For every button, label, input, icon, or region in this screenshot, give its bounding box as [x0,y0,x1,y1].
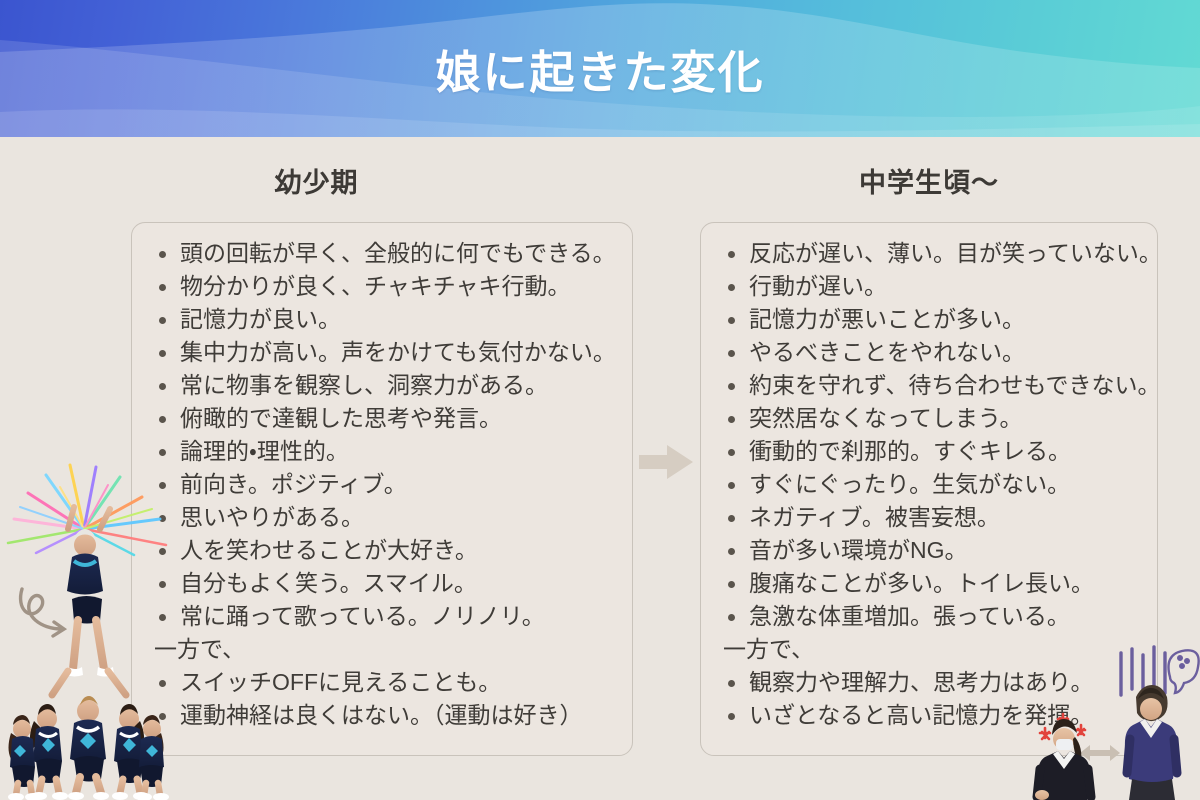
page-header: 娘に起きた変化 [0,0,1200,137]
list-item: 記憶力が悪いことが多い。 [719,303,1147,336]
column-heading-childhood: 幼少期 [0,161,633,200]
list-item: 観察力や理解力、思考力はあり。 [719,666,1147,699]
list-item: 思いやりがある。 [150,501,622,534]
list-item: すぐにぐったり。生気がない。 [719,468,1147,501]
list-item: 記憶力が良い。 [150,303,622,336]
list-item: 集中力が高い。声をかけても気付かない。 [150,336,622,369]
list-item: 突然居なくなってしまう。 [719,402,1147,435]
list-item: やるべきことをやれない。 [719,336,1147,369]
list-item: 衝動的で刹那的。すぐキレる。 [719,435,1147,468]
list-item: 常に物事を観察し、洞察力がある。 [150,369,622,402]
list-item: ネガティブ。被害妄想。 [719,501,1147,534]
curved-arrow-icon [21,589,64,636]
list-item: 約束を守れず、待ち合わせもできない。 [719,369,1147,402]
list-subheading: 一方で、 [719,633,1147,666]
list-item: 前向き。ポジティブ。 [150,468,622,501]
page-title: 娘に起きた変化 [0,0,1200,137]
bullet-list-juniorhigh: 反応が遅い、薄い。目が笑っていない。行動が遅い。記憶力が悪いことが多い。やるべき… [701,237,1157,732]
column-heading-juniorhigh: 中学生頃〜 [700,161,1158,200]
panel-juniorhigh: 反応が遅い、薄い。目が笑っていない。行動が遅い。記憶力が悪いことが多い。やるべき… [700,222,1158,756]
panel-childhood: 頭の回転が早く、全般的に何でもできる。物分かりが良く、チャキチャキ行動。記憶力が… [131,222,633,756]
list-item: 俯瞰的で達観した思考や発言。 [150,402,622,435]
list-item: 人を笑わせることが大好き。 [150,534,622,567]
bullet-list-childhood: 頭の回転が早く、全般的に何でもできる。物分かりが良く、チャキチャキ行動。記憶力が… [132,237,632,732]
list-item: 反応が遅い、薄い。目が笑っていない。 [719,237,1147,270]
right-arrow-icon [637,442,697,482]
list-item: スイッチOFFに見えることも。 [150,666,622,699]
list-item: 常に踊って歌っている。ノリノリ。 [150,600,622,633]
list-item: 論理的・理性的。 [150,435,622,468]
list-subheading: 一方で、 [150,633,622,666]
slide-body: 幼少期 中学生頃〜 頭の回転が早く、全般的に何でもできる。物分かりが良く、チャキ… [0,137,1200,800]
thought-bubble-icon [1169,650,1199,693]
list-item: 音が多い環境がNG。 [719,534,1147,567]
list-item: 頭の回転が早く、全般的に何でもできる。 [150,237,622,270]
list-item: いざとなると高い記憶力を発揮。 [719,699,1147,732]
list-item: 物分かりが良く、チャキチャキ行動。 [150,270,622,303]
cheer-flyer [67,507,114,677]
list-item: 運動神経は良くはない。（運動は好き） [150,699,622,732]
list-item: 行動が遅い。 [719,270,1147,303]
list-item: 腹痛なことが多い。トイレ長い。 [719,567,1147,600]
list-item: 自分もよく笑う。スマイル。 [150,567,622,600]
list-item: 急激な体重増加。張っている。 [719,600,1147,633]
